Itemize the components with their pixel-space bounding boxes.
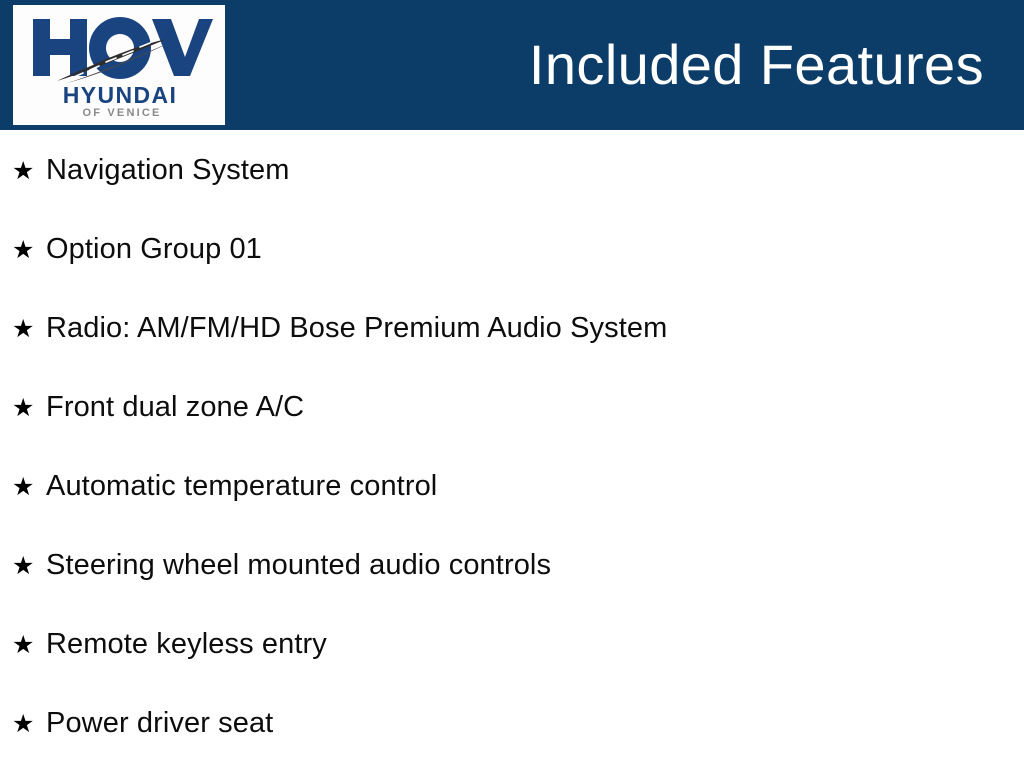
list-item: ★Steering wheel mounted audio controls: [12, 551, 551, 580]
feature-label: Steering wheel mounted audio controls: [46, 551, 551, 580]
slide-header: HYUNDAI OF VENICE Included Features: [0, 0, 1024, 130]
feature-label: Automatic temperature control: [46, 472, 437, 501]
feature-label: Power driver seat: [46, 709, 273, 738]
feature-label: Front dual zone A/C: [46, 393, 304, 422]
feature-label: Option Group 01: [46, 235, 262, 264]
list-item: ★Radio: AM/FM/HD Bose Premium Audio Syst…: [12, 314, 667, 343]
dealer-logo: HYUNDAI OF VENICE: [13, 5, 225, 125]
star-bullet-icon: ★: [12, 317, 46, 342]
included-features-list: ★Navigation System★Option Group 01★Radio…: [0, 130, 1024, 768]
list-item: ★Power driver seat: [12, 709, 273, 738]
star-bullet-icon: ★: [12, 633, 46, 658]
star-bullet-icon: ★: [12, 475, 46, 500]
list-item: ★Navigation System: [12, 156, 289, 185]
dealer-logo-plate: HYUNDAI OF VENICE: [13, 5, 225, 125]
star-bullet-icon: ★: [12, 554, 46, 579]
star-bullet-icon: ★: [12, 238, 46, 263]
page-title: Included Features: [529, 37, 984, 93]
feature-label: Navigation System: [46, 156, 289, 185]
svg-text:OF VENICE: OF VENICE: [82, 107, 161, 119]
hov-hyundai-of-venice-logo-icon: HYUNDAI OF VENICE: [27, 13, 213, 119]
star-bullet-icon: ★: [12, 396, 46, 421]
feature-label: Remote keyless entry: [46, 630, 327, 659]
feature-label: Radio: AM/FM/HD Bose Premium Audio Syste…: [46, 314, 667, 343]
star-bullet-icon: ★: [12, 159, 46, 184]
list-item: ★Front dual zone A/C: [12, 393, 304, 422]
list-item: ★Option Group 01: [12, 235, 262, 264]
star-bullet-icon: ★: [12, 712, 46, 737]
list-item: ★Automatic temperature control: [12, 472, 437, 501]
list-item: ★Remote keyless entry: [12, 630, 327, 659]
svg-text:HYUNDAI: HYUNDAI: [63, 82, 178, 108]
